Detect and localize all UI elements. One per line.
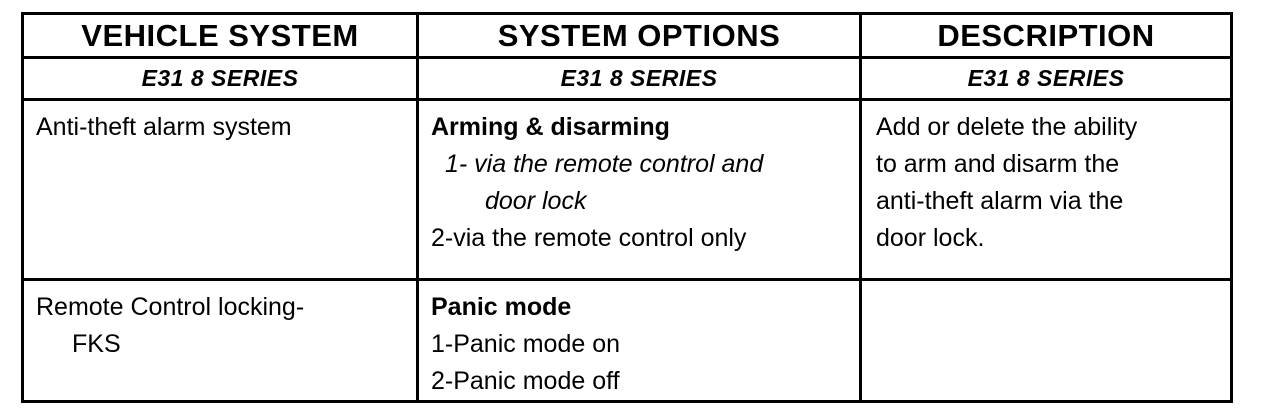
cell-description <box>861 280 1232 402</box>
cell-content: Panic mode 1-Panic mode on 2-Panic mode … <box>419 281 859 400</box>
column-header-vehicle-system: VEHICLE SYSTEM <box>23 14 418 58</box>
column-header-system-options: SYSTEM OPTIONS <box>418 14 861 58</box>
column-header-description: DESCRIPTION <box>861 14 1232 58</box>
option-item: 2-via the remote control only <box>431 220 859 257</box>
text-line-continuation: FKS <box>36 326 416 363</box>
subheader-system-options-model: E31 8 SERIES <box>418 58 861 100</box>
cell-system-options: Arming & disarming 1- via the remote con… <box>418 100 861 280</box>
cell-description: Add or delete the ability to arm and dis… <box>861 100 1232 280</box>
text-line: Anti-theft alarm system <box>36 109 416 146</box>
table-body: Anti-theft alarm system Arming & disarmi… <box>23 100 1232 402</box>
cell-content: Add or delete the ability to arm and dis… <box>862 101 1230 257</box>
option-item: 1- via the remote control and <box>431 146 859 183</box>
text-line: anti-theft alarm via the <box>876 183 1230 220</box>
vehicle-system-coding-table: VEHICLE SYSTEM SYSTEM OPTIONS DESCRIPTIO… <box>21 12 1233 403</box>
table-header: VEHICLE SYSTEM SYSTEM OPTIONS DESCRIPTIO… <box>23 14 1232 100</box>
cell-content: Arming & disarming 1- via the remote con… <box>419 101 859 257</box>
text-line: Add or delete the ability <box>876 109 1230 146</box>
cell-vehicle-system: Anti-theft alarm system <box>23 100 418 280</box>
subheader-description-model: E31 8 SERIES <box>861 58 1232 100</box>
header-row-sub: E31 8 SERIES E31 8 SERIES E31 8 SERIES <box>23 58 1232 100</box>
cell-content-empty <box>862 281 1230 289</box>
text-line: Remote Control locking- <box>36 289 416 326</box>
cell-vehicle-system: Remote Control locking- FKS <box>23 280 418 402</box>
page-root: VEHICLE SYSTEM SYSTEM OPTIONS DESCRIPTIO… <box>0 0 1264 410</box>
option-group-title: Panic mode <box>431 289 859 326</box>
text-line: to arm and disarm the <box>876 146 1230 183</box>
text-line: door lock. <box>876 220 1230 257</box>
option-group-title: Arming & disarming <box>431 109 859 146</box>
cell-system-options: Panic mode 1-Panic mode on 2-Panic mode … <box>418 280 861 402</box>
cell-content: Remote Control locking- FKS <box>24 281 416 363</box>
option-item: 1-Panic mode on <box>431 326 859 363</box>
table-row: Anti-theft alarm system Arming & disarmi… <box>23 100 1232 280</box>
table-row: Remote Control locking- FKS Panic mode 1… <box>23 280 1232 402</box>
subheader-vehicle-system-model: E31 8 SERIES <box>23 58 418 100</box>
option-item: 2-Panic mode off <box>431 363 859 400</box>
cell-content: Anti-theft alarm system <box>24 101 416 146</box>
option-item-continuation: door lock <box>431 183 859 220</box>
header-row-main: VEHICLE SYSTEM SYSTEM OPTIONS DESCRIPTIO… <box>23 14 1232 58</box>
